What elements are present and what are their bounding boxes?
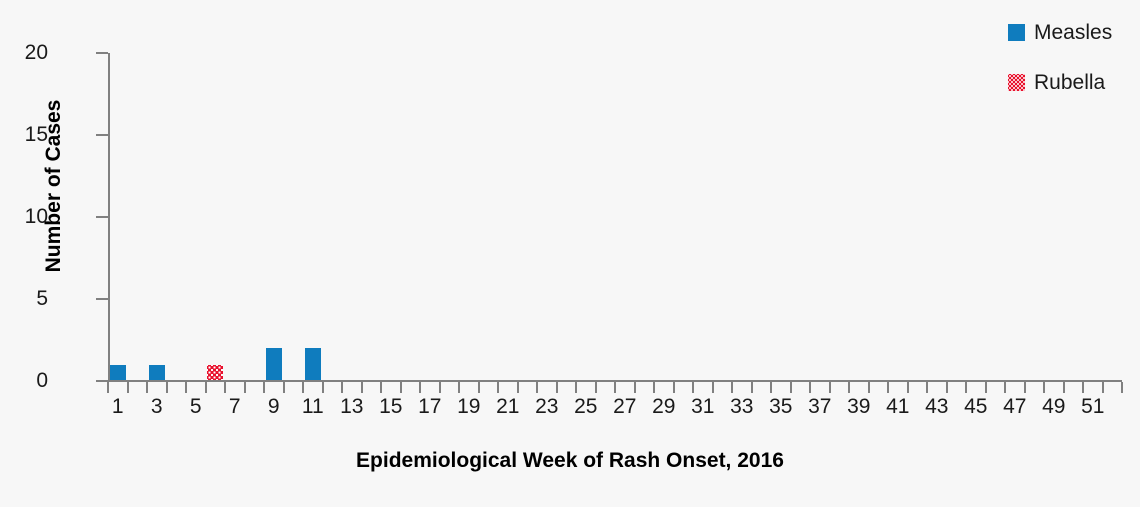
epidemiological-curve-chart: Number of Cases 05101520 135791113151719… (0, 0, 1140, 507)
x-axis-tick (634, 382, 636, 393)
x-axis-tick-label: 51 (1073, 396, 1113, 417)
x-axis-tick (751, 382, 753, 393)
x-axis-tick (985, 382, 987, 393)
x-axis-tick (244, 382, 246, 393)
x-axis-tick-label: 15 (371, 396, 411, 417)
x-axis-tick (790, 382, 792, 393)
x-axis-tick (770, 382, 772, 393)
x-axis-tick (1024, 382, 1026, 393)
y-axis-tick (96, 134, 108, 136)
x-axis-tick (653, 382, 655, 393)
x-axis-tick (731, 382, 733, 393)
x-axis-tick-label: 29 (644, 396, 684, 417)
x-axis-tick-label: 49 (1034, 396, 1074, 417)
x-axis-tick (361, 382, 363, 393)
y-axis-tick-label: 10 (0, 206, 48, 227)
legend-label: Rubella (1034, 72, 1105, 93)
x-axis-tick (926, 382, 928, 393)
x-axis-tick (458, 382, 460, 393)
x-axis-tick-label: 33 (722, 396, 762, 417)
x-axis-tick (965, 382, 967, 393)
bar-measles-week-3 (149, 365, 165, 381)
x-axis-tick (1063, 382, 1065, 393)
x-axis-tick-label: 27 (605, 396, 645, 417)
x-axis-tick (848, 382, 850, 393)
x-axis-tick (809, 382, 811, 393)
x-axis-tick (712, 382, 714, 393)
x-axis-tick (439, 382, 441, 393)
x-axis-tick-label: 19 (449, 396, 489, 417)
x-axis-tick (263, 382, 265, 393)
x-axis-tick (205, 382, 207, 393)
x-axis-title: Epidemiological Week of Rash Onset, 2016 (0, 449, 1140, 473)
x-axis-tick-label: 21 (488, 396, 528, 417)
x-axis-tick-label: 31 (683, 396, 723, 417)
x-axis-tick (829, 382, 831, 393)
measles-swatch-icon (1008, 24, 1025, 41)
legend-item-measles[interactable]: Measles (1008, 18, 1140, 46)
x-axis-tick (166, 382, 168, 393)
bar-measles-week-1 (110, 365, 126, 381)
x-axis-tick (595, 382, 597, 393)
y-axis-tick-label: 0 (0, 370, 48, 391)
x-axis-tick (1102, 382, 1104, 393)
x-axis-tick-label: 43 (917, 396, 957, 417)
x-axis-tick (478, 382, 480, 393)
x-axis-tick (868, 382, 870, 393)
bar-measles-week-11 (305, 348, 321, 381)
x-axis-tick-label: 11 (293, 396, 333, 417)
x-axis-tick (1082, 382, 1084, 393)
x-axis-tick (283, 382, 285, 393)
x-axis-tick-label: 17 (410, 396, 450, 417)
x-axis-tick (556, 382, 558, 393)
x-axis-tick-label: 1 (98, 396, 138, 417)
y-axis-tick-label: 20 (0, 42, 48, 63)
x-axis-tick (887, 382, 889, 393)
y-axis-tick (96, 216, 108, 218)
x-axis-tick-label: 3 (137, 396, 177, 417)
legend-item-rubella[interactable]: Rubella (1008, 68, 1140, 96)
x-axis-tick (946, 382, 948, 393)
bar-rubella-week-6 (207, 365, 223, 381)
x-axis-tick (575, 382, 577, 393)
x-axis-tick (517, 382, 519, 393)
y-axis-tick-label: 15 (0, 124, 48, 145)
x-axis-tick (400, 382, 402, 393)
bar-measles-week-9 (266, 348, 282, 381)
legend-label: Measles (1034, 22, 1112, 43)
y-axis-tick-label: 5 (0, 288, 48, 309)
x-axis-tick (497, 382, 499, 393)
x-axis-tick (614, 382, 616, 393)
chart-legend: MeaslesRubella (1008, 18, 1140, 118)
y-axis-tick (96, 52, 108, 54)
plot-area (108, 53, 1122, 381)
x-axis-tick (673, 382, 675, 393)
rubella-swatch-icon (1008, 74, 1025, 91)
x-axis-tick-label: 13 (332, 396, 372, 417)
x-axis-tick-label: 39 (839, 396, 879, 417)
x-axis-tick-label: 47 (995, 396, 1035, 417)
x-axis-tick-label: 35 (761, 396, 801, 417)
x-axis-tick (302, 382, 304, 393)
x-axis-tick (146, 382, 148, 393)
x-axis-tick (107, 382, 109, 393)
x-axis-tick (1121, 382, 1123, 393)
x-axis-tick-label: 7 (215, 396, 255, 417)
x-axis-tick (907, 382, 909, 393)
x-axis-tick (692, 382, 694, 393)
x-axis-tick-label: 37 (800, 396, 840, 417)
x-axis-tick (419, 382, 421, 393)
x-axis-tick-label: 25 (566, 396, 606, 417)
x-axis-tick (1004, 382, 1006, 393)
x-axis-tick (341, 382, 343, 393)
x-axis-tick-label: 45 (956, 396, 996, 417)
y-axis-tick (96, 298, 108, 300)
x-axis-tick-label: 9 (254, 396, 294, 417)
x-axis-tick-label: 23 (527, 396, 567, 417)
x-axis-tick-label: 41 (878, 396, 918, 417)
x-axis-tick (127, 382, 129, 393)
x-axis-tick (536, 382, 538, 393)
x-axis-tick-label: 5 (176, 396, 216, 417)
x-axis-tick (224, 382, 226, 393)
x-axis-tick (322, 382, 324, 393)
x-axis-tick (1043, 382, 1045, 393)
x-axis-tick (185, 382, 187, 393)
x-axis-tick (380, 382, 382, 393)
